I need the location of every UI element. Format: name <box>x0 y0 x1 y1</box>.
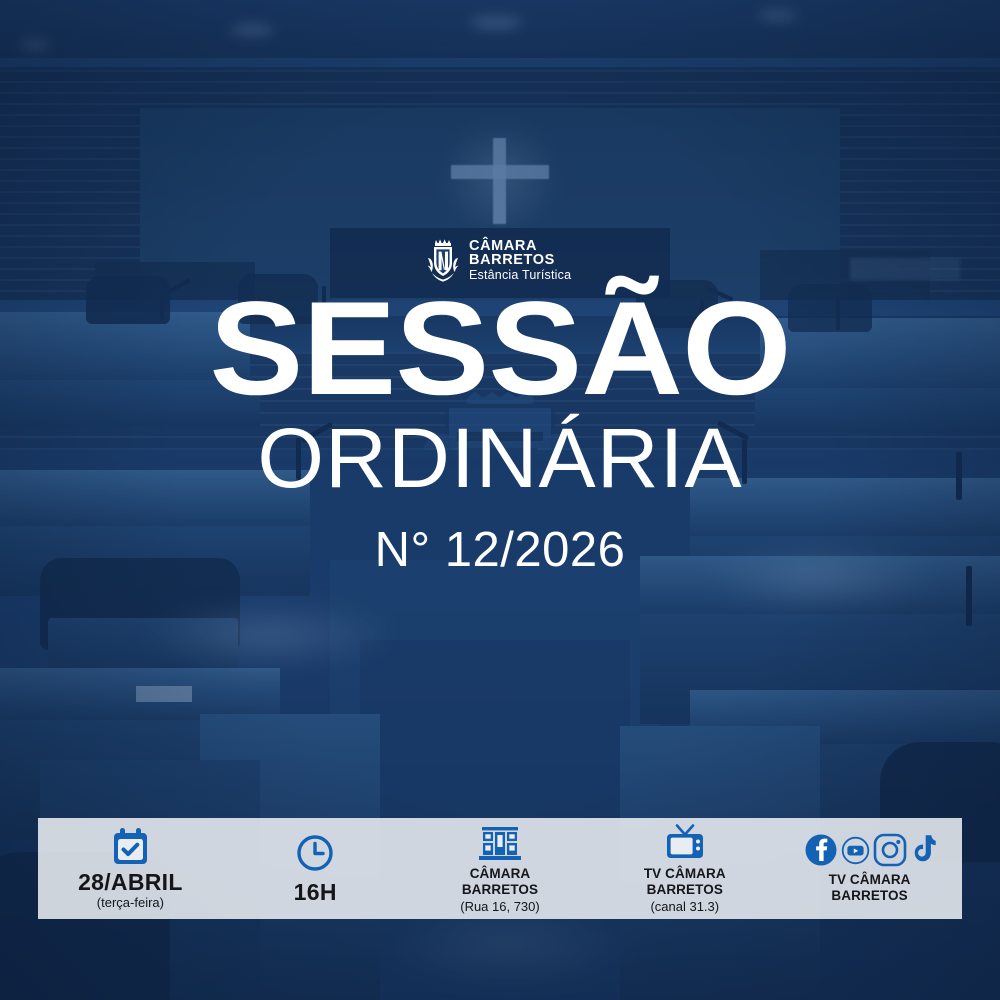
footer-item-time: 16H <box>223 818 408 919</box>
footer-item-social: TV CÂMARA BARRETOS <box>777 818 962 919</box>
footer-item-date: 28/ABRIL (terça-feira) <box>38 818 223 919</box>
venue-line-1: CÂMARA <box>462 866 538 882</box>
logo-line-1: CÂMARA <box>469 239 571 254</box>
social-line-2: BARRETOS <box>829 888 911 904</box>
social-line-1: TV CÂMARA <box>829 872 911 888</box>
television-icon <box>664 822 706 862</box>
time-primary: 16H <box>294 880 337 904</box>
footer-item-venue: CÂMARA BARRETOS (Rua 16, 730) <box>408 818 593 919</box>
social-icon-row <box>804 833 936 867</box>
date-primary: 28/ABRIL <box>78 870 183 894</box>
logo-line-2: BARRETOS <box>469 253 571 268</box>
info-footer-bar: 28/ABRIL (terça-feira) 16H <box>38 818 962 919</box>
youtube-icon[interactable] <box>841 836 870 865</box>
building-icon <box>478 822 522 862</box>
facebook-icon[interactable] <box>804 833 838 867</box>
tv-line-1: TV CÂMARA <box>644 866 726 882</box>
instagram-icon[interactable] <box>873 833 907 867</box>
calendar-check-icon <box>112 826 149 866</box>
headline-sub: ORDINÁRIA <box>0 416 1000 502</box>
headline-main: SESSÃO <box>0 286 1000 412</box>
tv-channel: (canal 31.3) <box>650 899 719 915</box>
headline-session-number: N° 12/2026 <box>0 522 1000 578</box>
date-secondary: (terça-feira) <box>97 895 164 911</box>
footer-item-tv: TV CÂMARA BARRETOS (canal 31.3) <box>592 818 777 919</box>
poster-canvas: CÂMARA BARRETOS Estância Turística SESSÃ… <box>0 0 1000 1000</box>
venue-line-2: BARRETOS <box>462 882 538 898</box>
tv-line-2: BARRETOS <box>644 882 726 898</box>
venue-address: (Rua 16, 730) <box>460 899 540 915</box>
tiktok-icon[interactable] <box>910 834 936 866</box>
clock-icon <box>296 832 334 872</box>
headline-block: SESSÃO ORDINÁRIA N° 12/2026 <box>0 286 1000 578</box>
